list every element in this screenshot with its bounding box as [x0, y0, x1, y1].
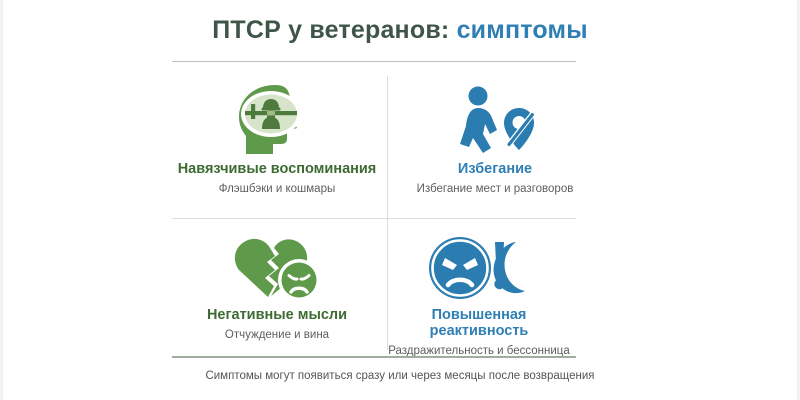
title-area: ПТСР у ветеранов: симптомы	[0, 16, 800, 45]
quadrant-title: Избегание	[390, 162, 600, 178]
quadrant-subtitle: Избегание мест и разговоров	[390, 183, 600, 197]
footer-note: Симптомы могут появиться сразу или через…	[0, 370, 800, 382]
quadrant-title: Навязчивые воспоминания	[172, 162, 382, 178]
page-title: ПТСР у ветеранов: симптомы	[0, 16, 800, 45]
quadrant-intrusive-memories: Навязчивые воспоминания Флэшбэки и кошма…	[172, 78, 382, 197]
angry-face-exclamation-moon-icon	[382, 224, 576, 302]
quadrant-avoidance: Избегание Избегание мест и разговоров	[390, 78, 600, 197]
title-divider-rule	[172, 61, 576, 62]
head-with-soldier-icon	[172, 78, 382, 156]
title-accent-text: симптомы	[457, 16, 588, 44]
walking-person-no-location-icon	[390, 78, 600, 156]
quadrant-subtitle: Флэшбэки и кошмары	[172, 183, 382, 197]
broken-heart-sad-face-icon	[172, 224, 382, 302]
footer-divider-rule	[172, 356, 576, 358]
left-edge-band	[0, 0, 3, 400]
title-main-text: ПТСР у ветеранов:	[212, 16, 449, 44]
quadrant-subtitle: Отчуждение и вина	[172, 329, 382, 343]
symptom-quadrant-grid: Навязчивые воспоминания Флэшбэки и кошма…	[172, 72, 576, 354]
infographic-slide: ПТСР у ветеранов: симптомы	[0, 0, 800, 400]
quadrant-hyperarousal: Повышенная реактивность Раздражительност…	[382, 224, 576, 359]
horizontal-divider	[172, 218, 576, 219]
quadrant-negative-thoughts: Негативные мысли Отчуждение и вина	[172, 224, 382, 343]
quadrant-title: Негативные мысли	[172, 308, 382, 324]
quadrant-title: Повышенная реактивность	[382, 308, 576, 340]
